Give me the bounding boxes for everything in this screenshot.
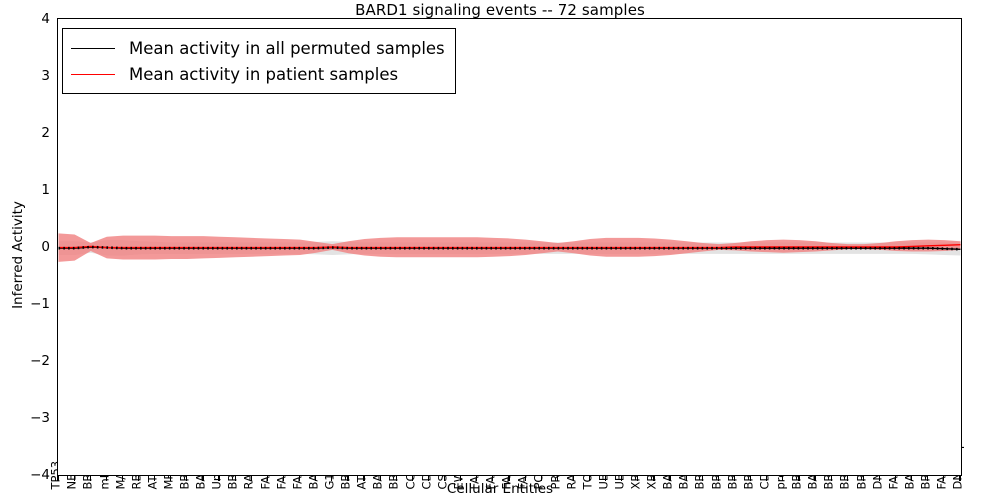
legend-item-permuted: Mean activity in all permuted samples [71, 35, 445, 61]
legend-swatch-permuted [71, 48, 115, 49]
legend-item-patient: Mean activity in patient samples [71, 61, 445, 87]
legend-label-permuted: Mean activity in all permuted samples [129, 39, 445, 58]
chart-legend: Mean activity in all permuted samples Me… [62, 28, 456, 94]
chart-figure: BARD1 signaling events -- 72 samples Inf… [0, 0, 1000, 500]
legend-swatch-patient [71, 74, 115, 75]
legend-label-patient: Mean activity in patient samples [129, 65, 398, 84]
